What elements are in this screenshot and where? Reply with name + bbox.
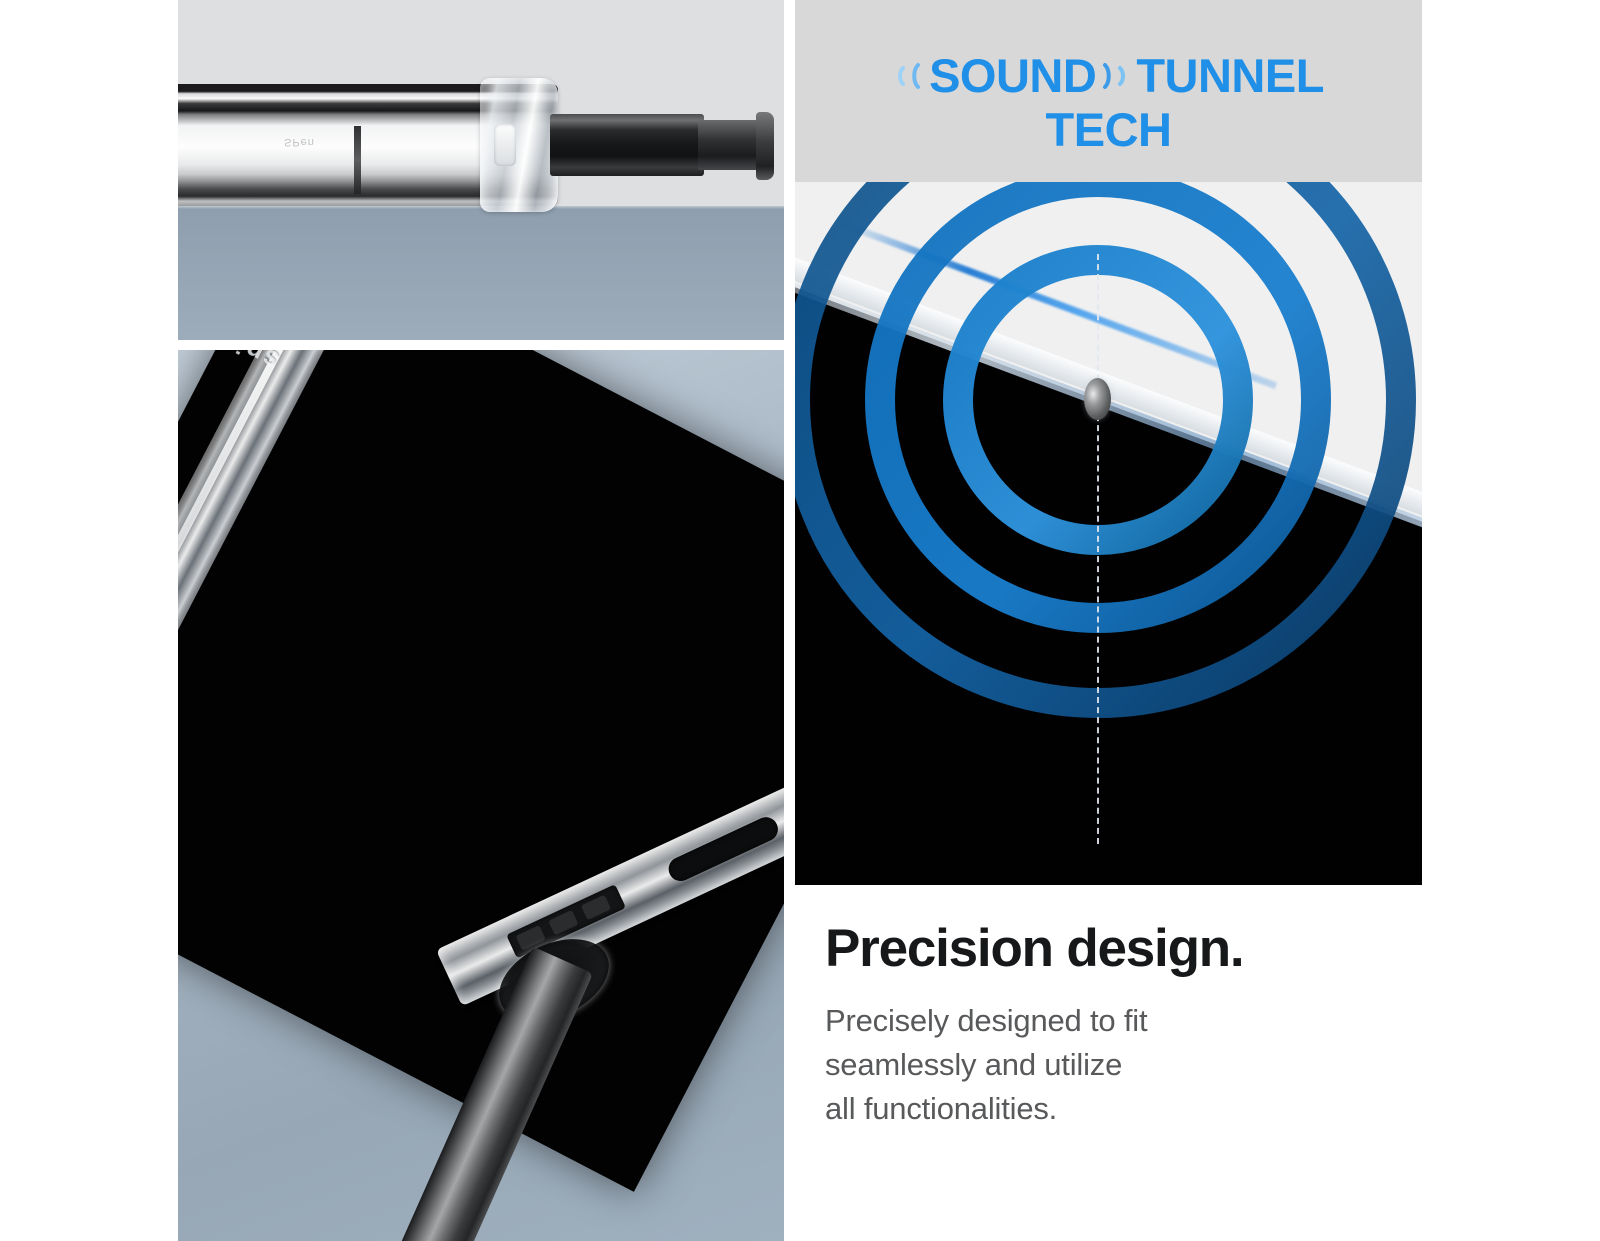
sound-tunnel-title-line-2: TECH [1046,105,1172,154]
panel-s-pen-eject: SPen [178,0,784,340]
sound-word: SOUND [929,52,1096,99]
copy-body: Precisely designed to fit seamlessly and… [825,999,1385,1131]
sound-wave-left-icon [893,59,921,93]
panel-case-precision-macro: spigen [178,350,784,1241]
sound-tunnel-illustration [795,182,1422,885]
clear-case-end-cap [480,78,558,212]
sound-wave-right-icon [1102,59,1130,93]
sound-wave-arcs [795,182,1422,885]
s-pen-mid-section [698,120,760,170]
speaker-port-element [1084,378,1111,420]
product-feature-collage: SPen spigen [0,0,1600,1241]
copy-body-line-1: Precisely designed to fit [825,999,1385,1043]
sound-tunnel-title-line-1: SOUND TUNNEL [893,52,1324,99]
case-slot-notch [494,124,516,166]
copy-body-line-2: seamlessly and utilize [825,1043,1385,1087]
s-pen-barrel-label: SPen [284,136,315,148]
surface-backdrop [178,206,784,340]
panel-sound-tunnel: SOUND TUNNEL TECH [795,0,1422,885]
case-seam-line [354,126,361,194]
copy-heading: Precision design. [825,920,1385,977]
s-pen-barrel [550,114,704,176]
s-pen-end-cap [756,112,774,180]
sound-tunnel-header: SOUND TUNNEL TECH [795,0,1422,182]
center-axis-dashed-line [1097,254,1099,844]
precision-design-copy: Precision design. Precisely designed to … [825,920,1385,1131]
tunnel-word: TUNNEL [1136,52,1324,99]
copy-body-line-3: all functionalities. [825,1087,1385,1131]
